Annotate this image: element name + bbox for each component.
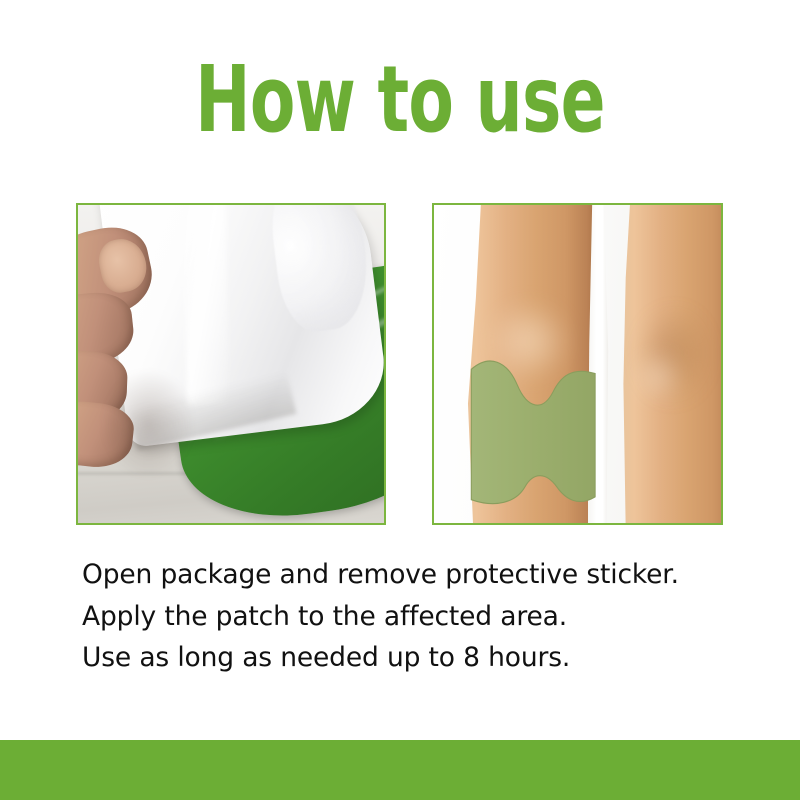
thumb-nail [95,235,151,297]
applied-olive-patch [470,358,598,514]
patch-applied-photo-content [434,205,721,523]
instruction-line-2: Apply the patch to the affected area. [82,596,742,638]
footer-bar [0,740,800,800]
hand-shadow [102,370,194,478]
instruction-line-3: Use as long as needed up to 8 hours. [82,637,742,679]
liner-curl [264,205,373,336]
patch-peel-photo-content [78,205,384,523]
knee-highlight [635,351,681,402]
patch-applied-photo [432,203,723,525]
how-to-use-infographic: How to use [0,0,800,800]
page-title: How to use [112,52,688,148]
instruction-list: Open package and remove protective stick… [82,554,742,679]
instruction-line-1: Open package and remove protective stick… [82,554,742,596]
patch-peel-photo [76,203,386,525]
